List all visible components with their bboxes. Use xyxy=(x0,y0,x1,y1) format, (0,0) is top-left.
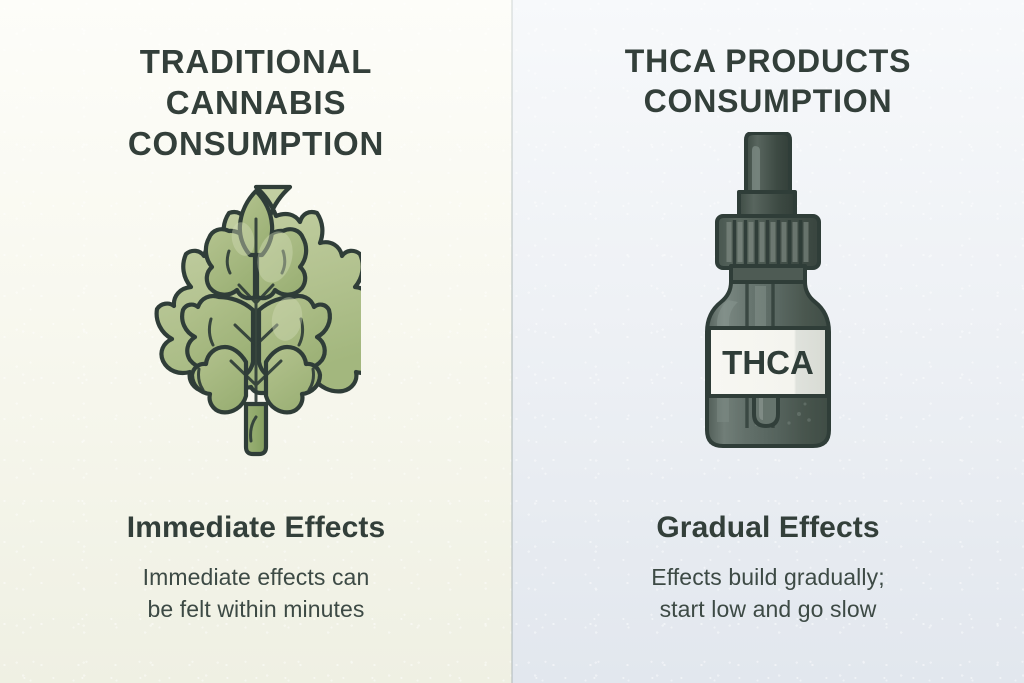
cannabis-leaf-icon xyxy=(151,179,361,469)
comparison-infographic: TRADITIONAL CANNABIS CONSUMPTION xyxy=(0,0,1024,683)
caption-heading-immediate-effects: Immediate Effects xyxy=(0,510,512,546)
panel-title-line-2: CANNABIS xyxy=(166,84,347,121)
caption-body-gradual-effects: Effects build gradually; start low and g… xyxy=(512,562,1024,625)
panel-title-traditional: TRADITIONAL CANNABIS CONSUMPTION xyxy=(0,0,512,165)
bottle-label-text: THCA xyxy=(722,344,814,381)
illustration-area-right: THCA xyxy=(512,121,1024,510)
panel-thca-products: THCA PRODUCTS CONSUMPTION xyxy=(512,0,1024,683)
thca-dropper-bottle-icon: THCA xyxy=(683,132,853,462)
caption-body-line-2: start low and go slow xyxy=(512,594,1024,626)
caption-body-line-1: Effects build gradually; xyxy=(512,562,1024,594)
bottle-label: THCA xyxy=(709,328,827,396)
panel-title-line-2: CONSUMPTION xyxy=(644,83,893,119)
panel-title-line-3: CONSUMPTION xyxy=(128,125,384,162)
dropper-bulb-highlight xyxy=(752,146,760,197)
caption-right: Gradual Effects Effects build gradually;… xyxy=(512,510,1024,683)
panel-traditional-cannabis: TRADITIONAL CANNABIS CONSUMPTION xyxy=(0,0,512,683)
caption-body-line-2: be felt within minutes xyxy=(0,594,512,626)
caption-left: Immediate Effects Immediate effects can … xyxy=(0,510,512,683)
illustration-area-left xyxy=(0,165,512,510)
panel-title-line-1: TRADITIONAL xyxy=(140,43,372,80)
caption-heading-gradual-effects: Gradual Effects xyxy=(512,510,1024,546)
panel-title-thca: THCA PRODUCTS CONSUMPTION xyxy=(512,0,1024,121)
caption-body-immediate-effects: Immediate effects can be felt within min… xyxy=(0,562,512,625)
caption-body-line-1: Immediate effects can xyxy=(0,562,512,594)
leaf-stem xyxy=(246,404,266,454)
panel-title-line-1: THCA PRODUCTS xyxy=(625,43,912,79)
